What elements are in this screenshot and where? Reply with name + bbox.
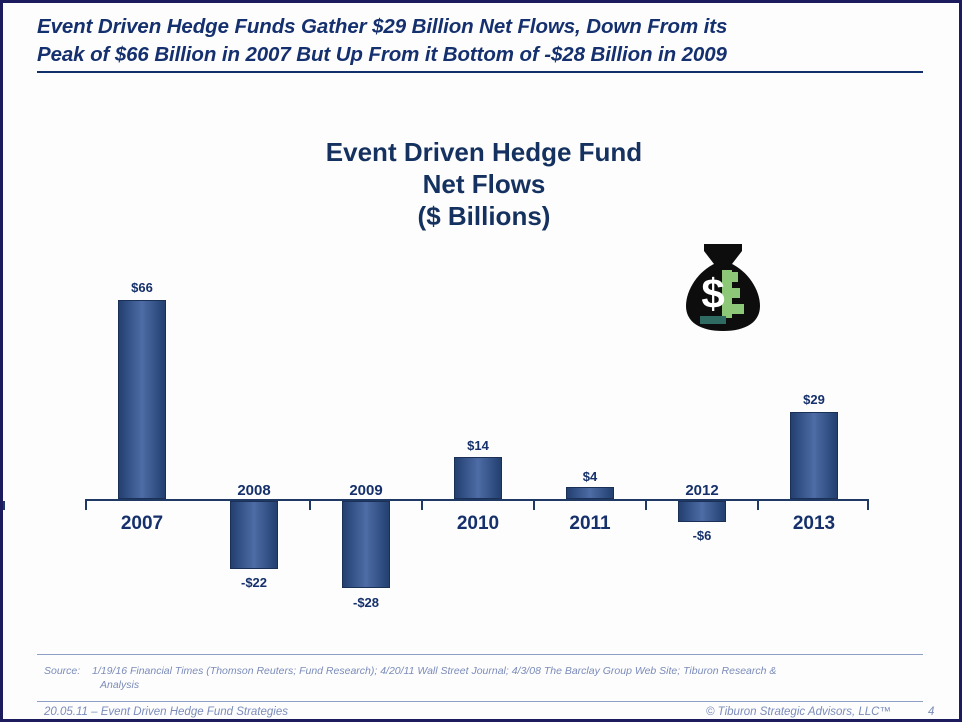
axis-tick <box>757 501 759 510</box>
bar-2013[interactable] <box>790 412 838 499</box>
bar-category-2012: 2012 <box>662 482 742 499</box>
footer-divider <box>37 701 923 702</box>
bar-2008[interactable] <box>230 501 278 569</box>
slide: Event Driven Hedge Funds Gather $29 Bill… <box>0 0 962 722</box>
bar-value-2009: -$28 <box>326 595 406 610</box>
footer-deck-title: 20.05.11 – Event Driven Hedge Fund Strat… <box>44 706 288 718</box>
source-text-line-2: Analysis <box>100 678 934 692</box>
bar-value-2008: -$22 <box>214 575 294 590</box>
source-note: Source:1/19/16 Financial Times (Thomson … <box>44 664 934 692</box>
chart-zero-axis <box>85 499 869 501</box>
bar-value-2007: $66 <box>102 280 182 295</box>
axis-tick <box>533 501 535 510</box>
footer-page-number: 4 <box>928 706 934 718</box>
bar-category-2009: 2009 <box>326 482 406 499</box>
bar-value-2012: -$6 <box>662 528 742 543</box>
money-bag-icon: $ <box>682 242 764 334</box>
axis-tick <box>867 501 869 510</box>
bar-2011[interactable] <box>566 487 614 499</box>
bar-value-2010: $14 <box>438 438 518 453</box>
bar-chart-plot-area: $66 2007 2008 -$22 2009 -$28 $14 2010 $4… <box>3 3 962 722</box>
bar-category-2011: 2011 <box>550 513 630 535</box>
footer-bottom-rule <box>6 719 962 721</box>
axis-tick <box>645 501 647 510</box>
bar-value-2013: $29 <box>774 392 854 407</box>
axis-tick <box>309 501 311 510</box>
bar-2012[interactable] <box>678 501 726 522</box>
source-divider <box>37 654 923 655</box>
axis-tick <box>85 501 87 510</box>
bar-value-2011: $4 <box>550 469 630 484</box>
bar-category-2007: 2007 <box>102 513 182 535</box>
axis-tick <box>421 501 423 510</box>
bar-category-2010: 2010 <box>438 513 518 535</box>
bar-2007[interactable] <box>118 300 166 499</box>
footer-copyright: © Tiburon Strategic Advisors, LLC™ <box>706 706 891 718</box>
bar-2010[interactable] <box>454 457 502 499</box>
bar-category-2013: 2013 <box>774 513 854 535</box>
svg-text:$: $ <box>701 270 724 317</box>
source-text-line-1: 1/19/16 Financial Times (Thomson Reuters… <box>92 665 776 677</box>
bar-category-2008: 2008 <box>214 482 294 499</box>
bar-2009[interactable] <box>342 501 390 588</box>
axis-tick <box>3 501 5 510</box>
source-label: Source: <box>44 664 92 678</box>
